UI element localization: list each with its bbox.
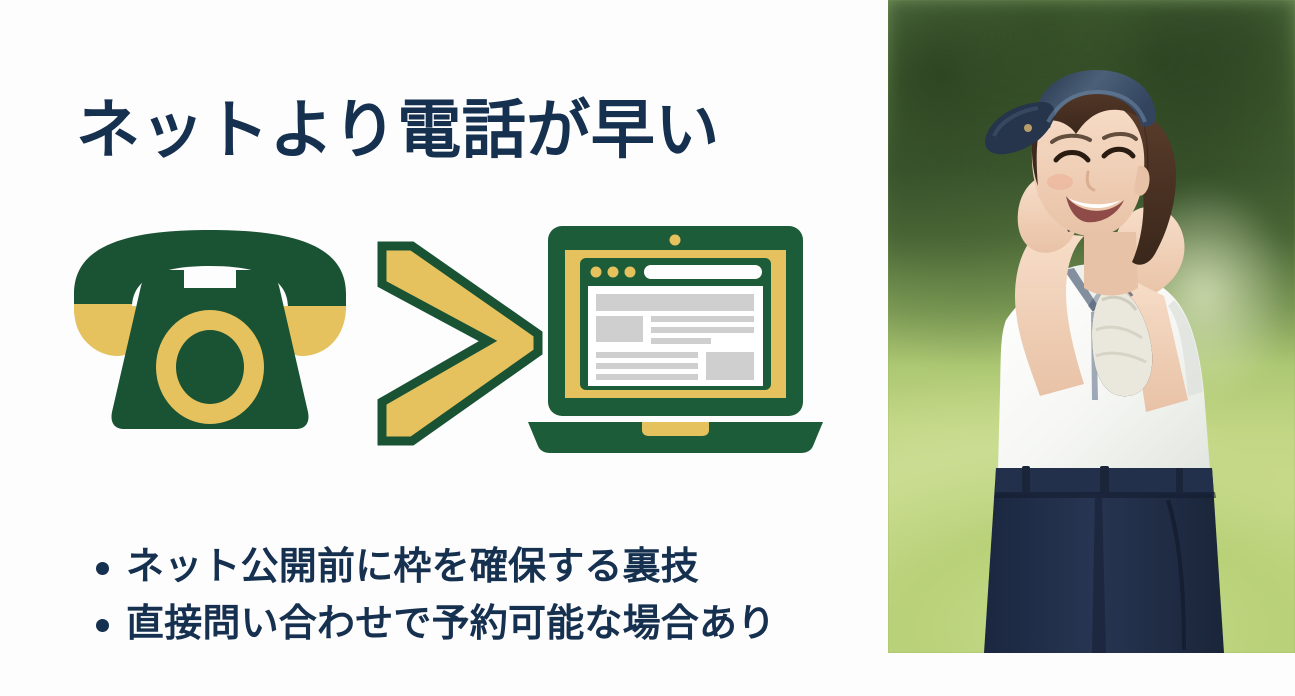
page-line-4 <box>596 352 698 358</box>
telephone-dial-center <box>176 330 244 404</box>
list-item-label: ネット公開前に枠を確保する裏技 <box>126 545 699 590</box>
bullet-dot-icon <box>96 619 109 632</box>
key-points-list: ネット公開前に枠を確保する裏技 直接問い合わせで予約可能な場合あり <box>96 545 856 659</box>
golfer-on-phone-photo <box>888 0 1295 653</box>
list-item-label: 直接問い合わせで予約可能な場合あり <box>126 602 775 647</box>
photo-skirt <box>984 466 1224 653</box>
photo-neck <box>1084 232 1138 296</box>
browser-dot-2 <box>608 267 619 278</box>
slide-canvas: ネットより電話が早い <box>0 0 1295 696</box>
photo-visor-logo <box>1024 124 1032 132</box>
list-item: ネット公開前に枠を確保する裏技 <box>96 545 856 590</box>
page-block-header <box>596 294 754 311</box>
laptop-trackpad-notch <box>642 422 709 436</box>
browser-address-bar <box>644 265 762 279</box>
laptop-camera-dot <box>670 235 681 246</box>
page-line-2 <box>651 327 754 333</box>
icon-comparison-row <box>60 222 860 457</box>
page-line-6 <box>596 374 698 380</box>
chevron-shape <box>382 246 538 441</box>
page-title: ネットより電話が早い <box>76 95 720 167</box>
rotary-telephone-icon <box>60 222 360 457</box>
page-line-1 <box>651 316 754 322</box>
page-line-3 <box>651 338 711 344</box>
laptop-website-icon <box>520 222 860 457</box>
browser-dot-1 <box>591 267 602 278</box>
bullet-dot-icon <box>96 562 109 575</box>
list-item: 直接問い合わせで予約可能な場合あり <box>96 602 856 647</box>
browser-dot-3 <box>625 267 636 278</box>
page-block-image <box>706 352 754 380</box>
left-content-panel: ネットより電話が早い <box>0 0 888 696</box>
page-block-thumb <box>596 316 643 342</box>
page-line-5 <box>596 363 698 369</box>
